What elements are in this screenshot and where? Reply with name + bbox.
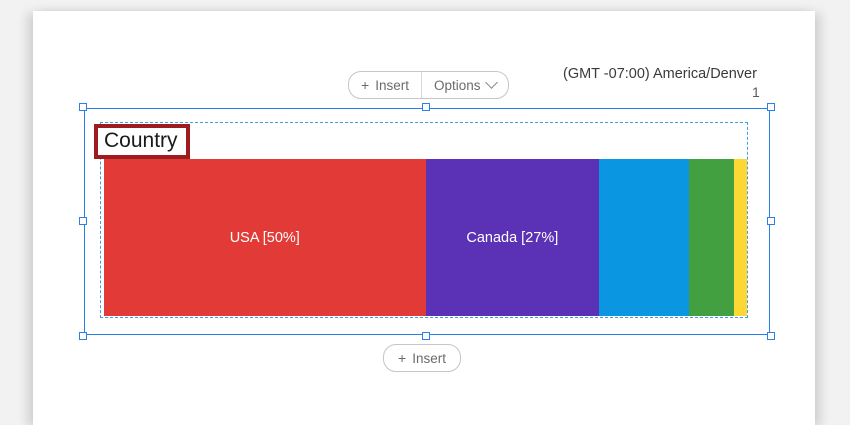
- resize-handle-top-left[interactable]: [79, 103, 87, 111]
- insert-button-bottom-label: Insert: [412, 351, 446, 366]
- bar-segment-label: Canada [27%]: [466, 230, 558, 246]
- chart-toolbar: + Insert Options: [348, 71, 509, 99]
- resize-handle-top-right[interactable]: [767, 103, 775, 111]
- bar-segment-usa[interactable]: USA [50%]: [104, 159, 426, 316]
- resize-handle-middle-right[interactable]: [767, 217, 775, 225]
- row-number-label: 1: [752, 84, 760, 100]
- insert-button-top[interactable]: + Insert: [349, 72, 421, 98]
- stacked-bar-chart[interactable]: USA [50%]Canada [27%]: [104, 159, 747, 316]
- timezone-label: (GMT -07:00) America/Denver: [563, 66, 757, 82]
- chevron-down-icon: [486, 76, 499, 89]
- bar-segment-segment-5[interactable]: [734, 159, 747, 316]
- options-button-label: Options: [434, 78, 481, 93]
- resize-handle-bottom-right[interactable]: [767, 332, 775, 340]
- insert-button-bottom[interactable]: + Insert: [383, 344, 461, 372]
- resize-handle-bottom-center[interactable]: [422, 332, 430, 340]
- resize-handle-bottom-left[interactable]: [79, 332, 87, 340]
- bar-segment-label: USA [50%]: [230, 230, 300, 246]
- insert-button-top-label: Insert: [375, 78, 409, 93]
- resize-handle-top-center[interactable]: [422, 103, 430, 111]
- bar-segment-canada[interactable]: Canada [27%]: [426, 159, 600, 316]
- chart-title: Country: [104, 129, 178, 152]
- bar-segment-segment-4[interactable]: [689, 159, 734, 316]
- bar-segment-segment-3[interactable]: [599, 159, 689, 316]
- plus-icon: +: [361, 78, 369, 92]
- options-button[interactable]: Options: [421, 72, 509, 98]
- chart-title-highlight[interactable]: Country: [94, 124, 190, 159]
- plus-icon: +: [398, 351, 406, 365]
- resize-handle-middle-left[interactable]: [79, 217, 87, 225]
